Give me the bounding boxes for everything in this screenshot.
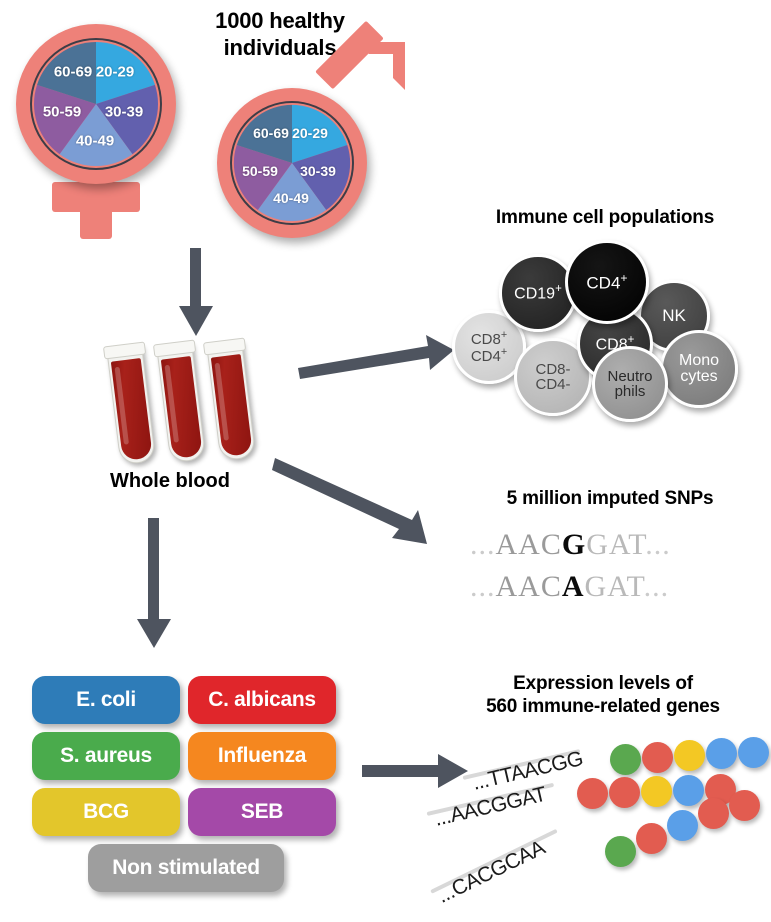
strand-bead	[609, 777, 640, 808]
strand-bead	[577, 778, 608, 809]
stimulus-label: Non stimulated	[112, 856, 259, 880]
bubble-neutrophils: Neutrophils	[592, 346, 668, 422]
stimulus-label: S. aureus	[60, 744, 152, 768]
strand-sequence: ...CACGCAA	[434, 836, 549, 909]
male-symbol: 20-29 30-39 40-49 50-59 60-69	[205, 44, 405, 244]
snp-suffix-dots: ...	[645, 528, 671, 561]
stimulus-label: SEB	[241, 800, 283, 824]
snp-variant-base: A	[562, 570, 585, 603]
snp-left-bases: AAC	[496, 570, 562, 603]
bubble-label: CD8+CD4+	[471, 330, 507, 365]
stimuli-panel: E. coli C. albicans S. aureus Influenza …	[32, 676, 342, 896]
age-label-40-49: 40-49	[76, 133, 114, 150]
strand-bead	[674, 740, 705, 771]
snp-left-bases: AAC	[496, 528, 562, 561]
snp-row: ...AACAGAT...	[470, 570, 669, 604]
female-symbol-crossbar	[52, 182, 140, 212]
strand-bead	[698, 798, 729, 829]
stimulus-seb[interactable]: SEB	[188, 788, 336, 836]
bubble-monocytes: Monocytes	[660, 330, 738, 408]
bubble-label: Monocytes	[679, 353, 719, 386]
diagram-canvas: 20-29 30-39 40-49 50-59 60-69 1000 healt…	[0, 0, 771, 922]
strand-bead	[729, 790, 760, 821]
strand-bead	[605, 836, 636, 867]
arrow-blood-to-snps	[272, 448, 457, 548]
stimulus-influenza[interactable]: Influenza	[188, 732, 336, 780]
snp-sequences: ...AACGGAT... ...AACAGAT...	[470, 528, 760, 618]
bubble-label: CD8-CD4-	[535, 362, 570, 393]
snp-row: ...AACGGAT...	[470, 528, 671, 562]
stimulus-non-stimulated[interactable]: Non stimulated	[88, 844, 284, 892]
stimulus-s-aureus[interactable]: S. aureus	[32, 732, 180, 780]
arrow-blood-to-immune-cells	[296, 330, 456, 385]
snp-suffix-dots: ...	[644, 570, 670, 603]
snp-variant-base: G	[562, 528, 586, 561]
snp-right-bases: GAT	[586, 528, 645, 561]
stimulus-e-coli[interactable]: E. coli	[32, 676, 180, 724]
rna-strands: ...TTAACGG ...AACGGAT ...CACGCAA	[455, 730, 771, 910]
age-pie-male: 20-29 30-39 40-49 50-59 60-69	[232, 103, 352, 223]
bubble-label: Neutrophils	[607, 369, 652, 400]
stimulus-label: C. albicans	[208, 688, 316, 712]
age-label-60-69: 60-69	[54, 64, 92, 81]
age-label-male-50-59: 50-59	[242, 163, 278, 179]
blood-tube	[156, 342, 206, 464]
section-title-expression: Expression levels of 560 immune-related …	[435, 672, 771, 718]
strand-bead	[667, 810, 698, 841]
age-label-male-40-49: 40-49	[273, 190, 309, 206]
age-label-male-20-29: 20-29	[292, 125, 328, 141]
stimulus-c-albicans[interactable]: C. albicans	[188, 676, 336, 724]
blood-tube	[106, 344, 156, 466]
stimulus-label: BCG	[83, 800, 129, 824]
stimulus-label: Influenza	[218, 744, 306, 768]
strand-bead	[738, 737, 769, 768]
blood-tubes	[100, 338, 290, 468]
bubble-cd19p: CD19+	[499, 254, 577, 332]
bubble-cd4p: CD4+	[565, 240, 649, 324]
label-whole-blood: Whole blood	[60, 470, 280, 493]
bubble-label: CD4+	[586, 272, 627, 292]
section-title-snps: 5 million imputed SNPs	[450, 487, 770, 510]
snp-prefix-dots: ...	[470, 528, 496, 561]
snp-right-bases: GAT	[585, 570, 644, 603]
stimulus-bcg[interactable]: BCG	[32, 788, 180, 836]
blood-tube	[206, 340, 256, 462]
age-label-male-60-69: 60-69	[253, 125, 289, 141]
strand-bead	[706, 738, 737, 769]
stimulus-label: E. coli	[76, 688, 136, 712]
strand-bead	[641, 776, 672, 807]
age-pie-female: 20-29 30-39 40-49 50-59 60-69	[32, 40, 160, 168]
male-symbol-arrowhead	[351, 40, 407, 96]
age-label-20-29: 20-29	[96, 64, 134, 81]
strand-bead	[673, 775, 704, 806]
age-label-50-59: 50-59	[43, 104, 81, 121]
strand-bead	[636, 823, 667, 854]
immune-cell-bubbles: CD8+CD4+ CD19+ CD4+ CD8-CD4- CD8+ NK Neu…	[452, 238, 762, 418]
bubble-label: CD19+	[514, 284, 562, 303]
arrow-subjects-to-blood	[176, 248, 216, 338]
female-symbol: 20-29 30-39 40-49 50-59 60-69	[8, 14, 184, 234]
snp-prefix-dots: ...	[470, 570, 496, 603]
strand-bead	[610, 744, 641, 775]
strand-bead	[642, 742, 673, 773]
section-title-immune-cells: Immune cell populations	[440, 206, 770, 229]
arrow-blood-to-stimuli	[134, 518, 174, 650]
age-label-male-30-39: 30-39	[300, 163, 336, 179]
age-label-30-39: 30-39	[105, 104, 143, 121]
arrow-stimuli-to-expression	[360, 752, 470, 792]
bubble-label: NK	[662, 307, 686, 324]
